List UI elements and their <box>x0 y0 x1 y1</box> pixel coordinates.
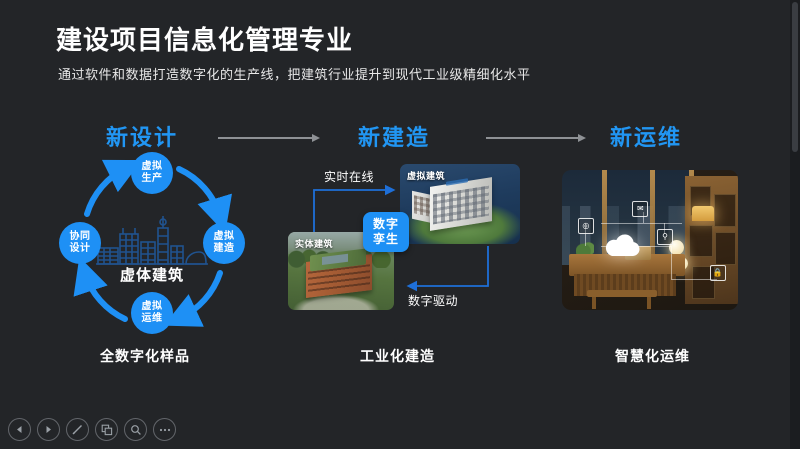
node-line-1: 协同 <box>70 231 91 243</box>
physical-building-label: 实体建筑 <box>295 237 333 250</box>
node-line-1: 虚拟 <box>142 161 163 173</box>
smart-operations-image: ✉ ◎ ⚲ 🔒 <box>562 170 738 310</box>
stage-header-design: 新设计 <box>106 120 178 152</box>
slide-toolbar <box>8 418 176 441</box>
cloud-icon <box>601 234 643 258</box>
node-line-2: 设计 <box>70 243 91 255</box>
desk-lamp <box>692 206 714 221</box>
cycle-node-virtual-construction[interactable]: 虚拟 建造 <box>203 222 245 264</box>
vertical-scrollbar-track[interactable] <box>790 0 800 449</box>
envelope-icon: ✉ <box>632 201 648 217</box>
presentation-slide: 建设项目信息化管理专业 通过软件和数据打造数字化的生产线，把建筑行业提升到现代工… <box>0 0 790 449</box>
slide-thumbnails-button[interactable] <box>95 418 118 441</box>
virtual-building-image: 虚拟建筑 <box>400 164 520 244</box>
stage-header-operations: 新运维 <box>610 120 682 152</box>
page-title: 建设项目信息化管理专业 <box>56 20 353 57</box>
city-skyline-icon <box>96 214 208 266</box>
magnifier-icon <box>130 424 142 436</box>
pen-annotate-button[interactable] <box>66 418 89 441</box>
cycle-node-virtual-operations[interactable]: 虚拟 运维 <box>131 292 173 334</box>
play-slideshow-button[interactable] <box>37 418 60 441</box>
lock-icon: 🔒 <box>710 265 726 281</box>
triangle-left-icon <box>15 425 24 434</box>
vertical-scrollbar-thumb[interactable] <box>792 2 798 152</box>
virtual-building-label: 虚拟建筑 <box>407 169 445 182</box>
flow-label-digital-driven: 数字驱动 <box>408 292 458 309</box>
page-subtitle: 通过软件和数据打造数字化的生产线，把建筑行业提升到现代工业级精细化水平 <box>58 64 531 83</box>
caption-smart-operations: 智慧化运维 <box>615 346 690 366</box>
node-line-1: 虚拟 <box>142 301 163 313</box>
pen-icon <box>71 423 84 436</box>
badge-line-1: 数字 <box>373 217 399 232</box>
location-pin-icon: ⚲ <box>657 229 673 245</box>
more-options-button[interactable] <box>153 418 176 441</box>
node-line-2: 运维 <box>142 313 163 325</box>
node-line-2: 建造 <box>214 243 235 255</box>
caption-digital-sample: 全数字化样品 <box>100 346 190 366</box>
triangle-right-icon <box>44 425 53 434</box>
caption-industrial-construction: 工业化建造 <box>360 346 435 366</box>
zoom-search-button[interactable] <box>124 418 147 441</box>
copy-pages-icon <box>101 424 113 436</box>
badge-line-2: 孪生 <box>373 232 399 247</box>
cycle-diagram: 虚体建筑 虚拟 生产 虚拟 建造 虚拟 运维 协同 设计 <box>52 152 252 336</box>
cycle-node-collaborative-design[interactable]: 协同 设计 <box>59 222 101 264</box>
previous-slide-button[interactable] <box>8 418 31 441</box>
flow-label-realtime-online: 实时在线 <box>324 168 374 185</box>
arrow-right-icon <box>486 134 586 142</box>
digital-twin-diagram: 虚拟建筑 实体建筑 数字 孪生 实时在线 数字驱动 <box>288 160 528 330</box>
cycle-node-virtual-production[interactable]: 虚拟 生产 <box>131 152 173 194</box>
ellipsis-icon <box>159 428 171 432</box>
stage-header-construction: 新建造 <box>358 120 430 152</box>
wifi-icon: ◎ <box>578 218 594 234</box>
node-line-1: 虚拟 <box>214 231 235 243</box>
arrow-right-icon <box>218 134 320 142</box>
cycle-center-label: 虚体建筑 <box>52 264 252 285</box>
node-line-2: 生产 <box>142 173 163 185</box>
digital-twin-badge[interactable]: 数字 孪生 <box>363 212 409 252</box>
